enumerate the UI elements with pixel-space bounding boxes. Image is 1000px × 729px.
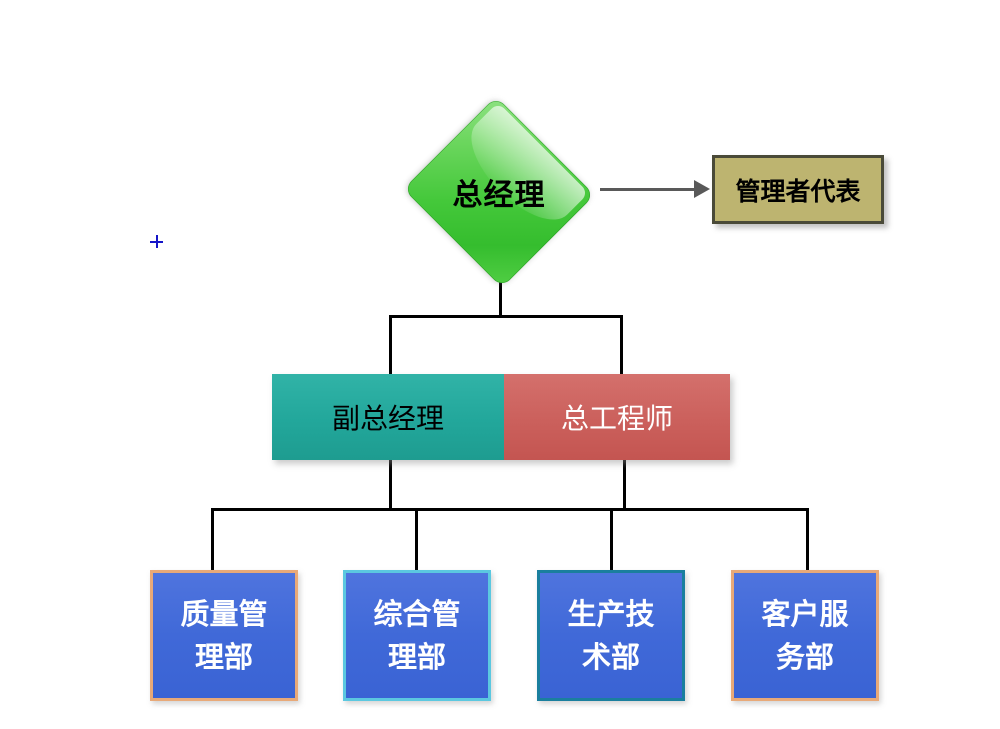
dept2-label-line2: 理部 [388,636,446,678]
connector-chief-stem [623,459,626,511]
general-manager-label: 总经理 [453,170,546,214]
dept4-label-line2: 务部 [776,636,834,678]
connector-dept-bus [211,508,809,511]
connector-to-dept1 [211,508,214,572]
org-chart-canvas: 管理者代表 总经理 副总经理 总工程师 质量管 理部 综合管 理部 生产技 术部… [0,0,1000,729]
deputy-general-manager-label: 副总经理 [332,397,444,437]
general-manager-label-wrap: 总经理 [393,93,605,291]
node-production-technology-dept[interactable]: 生产技 术部 [537,570,685,701]
chief-engineer-label: 总工程师 [561,397,673,437]
crosshair-cursor-icon [150,235,163,248]
dept1-label-line2: 理部 [195,636,253,678]
connector-mid-bus [389,315,623,318]
dept4-label-line1: 客户服 [761,593,848,635]
node-customer-service-dept[interactable]: 客户服 务部 [731,570,879,701]
node-management-representative[interactable]: 管理者代表 [712,155,884,224]
connector-to-deputy [389,315,392,376]
arrow-gm-to-mgrrep-line [600,188,694,191]
node-chief-engineer[interactable]: 总工程师 [504,374,730,460]
management-representative-label: 管理者代表 [735,172,860,208]
connector-deputy-stem [389,459,392,511]
node-quality-management-dept[interactable]: 质量管 理部 [150,570,298,701]
node-deputy-general-manager[interactable]: 副总经理 [272,374,504,460]
connector-to-dept2 [415,508,418,572]
connector-to-dept3 [610,508,613,572]
node-general-administration-dept[interactable]: 综合管 理部 [343,570,491,701]
dept3-label-line2: 术部 [582,636,640,678]
dept2-label-line1: 综合管 [373,593,460,635]
arrow-gm-to-mgrrep-head [694,180,710,198]
connector-to-chief [620,315,623,376]
dept3-label-line1: 生产技 [567,593,654,635]
dept1-label-line1: 质量管 [180,593,267,635]
connector-to-dept4 [806,508,809,572]
mid-management-row: 副总经理 总工程师 [272,374,730,460]
